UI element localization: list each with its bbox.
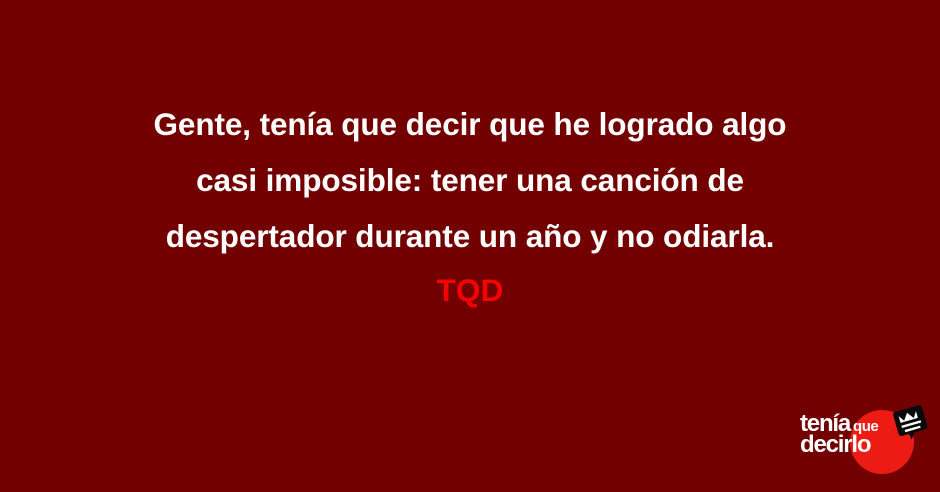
speech-bubble-icon	[891, 404, 931, 444]
quote-signature: TQD	[60, 264, 880, 316]
quote-card: Gente, tenía que decir que he logrado al…	[0, 0, 940, 492]
logo-word-decirlo: decirlo	[800, 431, 870, 458]
tqd-logo[interactable]: tenía que decirlo	[798, 404, 938, 488]
quote-block: Gente, tenía que decir que he logrado al…	[60, 96, 880, 316]
quote-text: Gente, tenía que decir que he logrado al…	[60, 96, 880, 264]
logo-line-two: decirlo	[800, 433, 870, 457]
